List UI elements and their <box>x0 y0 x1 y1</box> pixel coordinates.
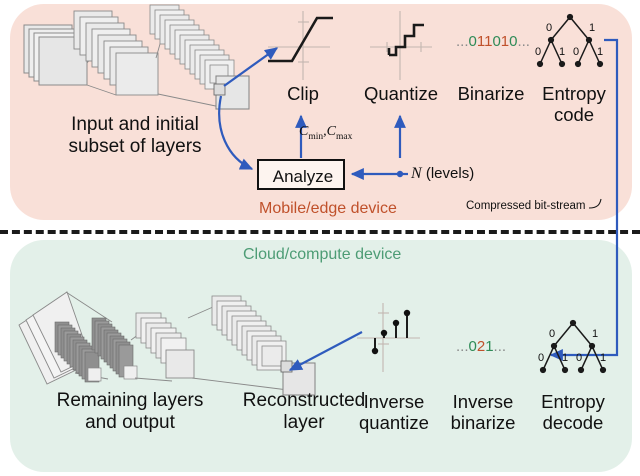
edge-network-label: Input and initial subset of layers <box>20 114 250 158</box>
cmax-symbol: C <box>327 124 336 139</box>
symbol-prefix: ... <box>456 338 469 355</box>
binarize-bit-string: ...011010... <box>456 33 530 50</box>
levels-text: (levels) <box>426 165 474 182</box>
symbol-digit: 2 <box>477 338 485 355</box>
stage-label-inverse-quantize: Inverse quantize <box>355 392 433 433</box>
symbol-digit: 1 <box>485 338 493 355</box>
stage-label-inverse-binarize: Inverse binarize <box>443 392 523 433</box>
bit-digit: 0 <box>469 33 477 50</box>
cmin-symbol: C <box>299 124 308 139</box>
levels-label: N (levels) <box>411 165 474 183</box>
compressed-bitstream-label: Compressed bit-stream <box>466 200 586 212</box>
analyze-label: Analyze <box>259 161 347 192</box>
stage-label-clip: Clip <box>264 84 342 105</box>
stage-label-entropy-code: Entropy code <box>532 84 616 125</box>
bit-suffix: ... <box>517 33 530 50</box>
cloud-device-label: Cloud/compute device <box>243 246 401 264</box>
stage-label-quantize: Quantize <box>358 84 444 105</box>
symbol-suffix: ... <box>494 338 507 355</box>
levels-symbol: N <box>411 165 422 182</box>
clip-params-label: Cmin,Cmax <box>299 124 352 142</box>
bit-digit: 1 <box>477 33 484 50</box>
symbol-digit: 0 <box>469 338 477 355</box>
edge-device-label: Mobile/edge device <box>259 200 397 218</box>
device-boundary-divider <box>0 230 640 234</box>
cloud-network-label: Remaining layers and output <box>10 390 250 434</box>
figure-canvas: 0 1 0 1 0 1 0 1 0 1 0 1 Mobile/edge devi… <box>0 0 640 476</box>
bit-digit: 1 <box>501 33 509 50</box>
cmax-subscript: max <box>336 132 352 142</box>
bit-digit: 0 <box>492 33 500 50</box>
stage-label-entropy-decode: Entropy decode <box>531 392 615 433</box>
cloud-device-panel <box>10 240 632 472</box>
bit-prefix: ... <box>456 33 469 50</box>
reconstructed-layer-label: Reconstructed layer <box>236 390 372 434</box>
analyze-box: Analyze <box>257 159 345 190</box>
inverse-binarize-symbol-string: ...021... <box>456 338 506 355</box>
stage-label-binarize: Binarize <box>448 84 534 105</box>
cmin-subscript: min <box>308 132 323 142</box>
